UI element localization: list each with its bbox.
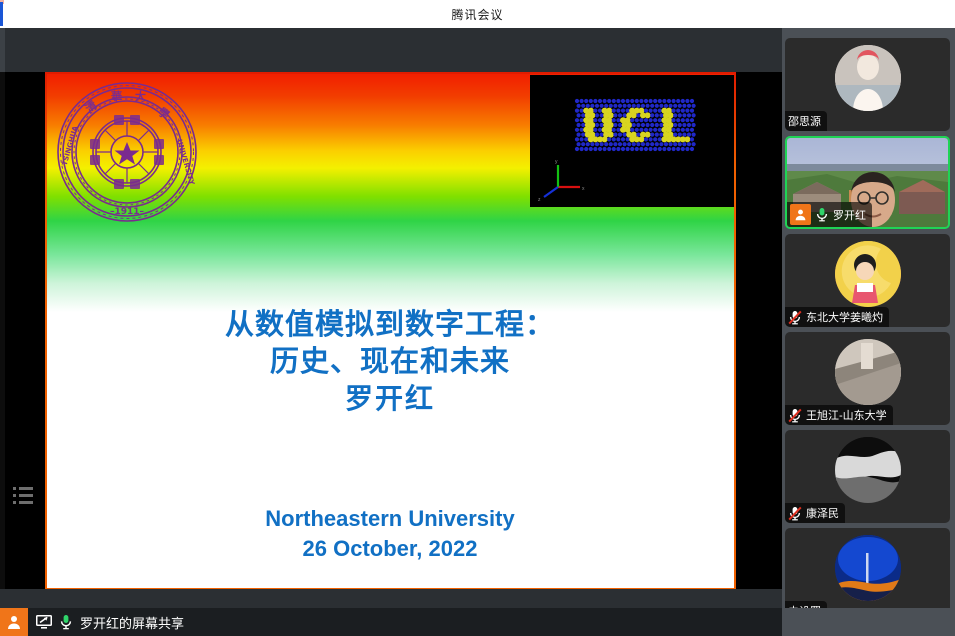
- svg-text:–1911–: –1911–: [110, 207, 145, 217]
- meeting-window: 腾讯会议: [0, 0, 955, 636]
- participant-name: 王旭江-山东大学: [806, 407, 887, 423]
- svg-text:大: 大: [135, 89, 146, 103]
- participant-name-bar: 王旭江-山东大学: [785, 405, 893, 425]
- participant-name-bar: 罗开红: [787, 202, 872, 227]
- avatar: [835, 437, 901, 503]
- share-letterbox-right: [736, 72, 782, 589]
- avatar: [835, 339, 901, 405]
- avatar: [835, 45, 901, 111]
- participant-panel[interactable]: 邵思源罗开红东北大学姜曦灼王旭江-山东大学康泽民未设置: [782, 28, 955, 636]
- titlebar-accent-bar: [0, 2, 3, 26]
- left-sidebar: [0, 72, 45, 589]
- tsinghua-university-seal: 清 華 大 學 TSINGHUA UNIVERSITY –1911–: [53, 78, 201, 226]
- participant-name-bar: 东北大学姜曦灼: [785, 307, 889, 327]
- statusbar-panel-filler: [782, 608, 955, 636]
- participant-tile[interactable]: 康泽民: [785, 430, 950, 523]
- avatar: [835, 241, 901, 307]
- svg-text:華: 華: [111, 89, 122, 103]
- slide-author: 罗开红: [45, 377, 735, 417]
- slide-footer: Northeastern University 26 October, 2022: [45, 504, 735, 563]
- microphone-muted-icon: [788, 310, 802, 325]
- window-title: 腾讯会议: [451, 6, 503, 23]
- shared-screen-area[interactable]: 清 華 大 學 TSINGHUA UNIVERSITY –1911–: [45, 72, 735, 589]
- microphone-muted-icon: [788, 408, 802, 423]
- participant-name: 邵思源: [788, 113, 821, 129]
- participant-name: 东北大学姜曦灼: [806, 309, 883, 325]
- slide-title: 从数值模拟到数字工程： 历史、现在和未来: [45, 307, 735, 381]
- window-titlebar: 腾讯会议: [0, 0, 955, 28]
- ucl-molecular-simulation: x y z: [530, 75, 735, 207]
- share-status-bar: 罗开红的屏幕共享: [0, 608, 782, 636]
- svg-text:清: 清: [82, 98, 99, 116]
- app-toolbar-strip: [0, 28, 782, 72]
- participant-name: 罗开红: [833, 207, 866, 223]
- participant-name-bar: 康泽民: [785, 503, 845, 523]
- app-toolbar-edge: [0, 28, 5, 72]
- list-view-icon[interactable]: [13, 487, 33, 505]
- share-letterbox-bottom: [0, 589, 782, 608]
- microphone-icon: [815, 207, 829, 222]
- share-status-label: 罗开红的屏幕共享: [80, 613, 184, 632]
- participant-tile[interactable]: 王旭江-山东大学: [785, 332, 950, 425]
- participant-tile[interactable]: 邵思源: [785, 38, 950, 131]
- host-person-icon: [790, 204, 811, 225]
- participant-tile[interactable]: 罗开红: [785, 136, 950, 229]
- left-sidebar-edge: [0, 72, 5, 589]
- microphone-icon[interactable]: [59, 614, 73, 630]
- microphone-muted-icon: [788, 506, 802, 521]
- presentation-slide: 清 華 大 學 TSINGHUA UNIVERSITY –1911–: [45, 72, 735, 589]
- monitor-share-icon[interactable]: [35, 614, 53, 630]
- person-icon: [0, 608, 28, 636]
- participant-tile[interactable]: 东北大学姜曦灼: [785, 234, 950, 327]
- participant-name: 康泽民: [806, 505, 839, 521]
- participant-name-bar: 邵思源: [785, 111, 827, 131]
- avatar: [835, 535, 901, 601]
